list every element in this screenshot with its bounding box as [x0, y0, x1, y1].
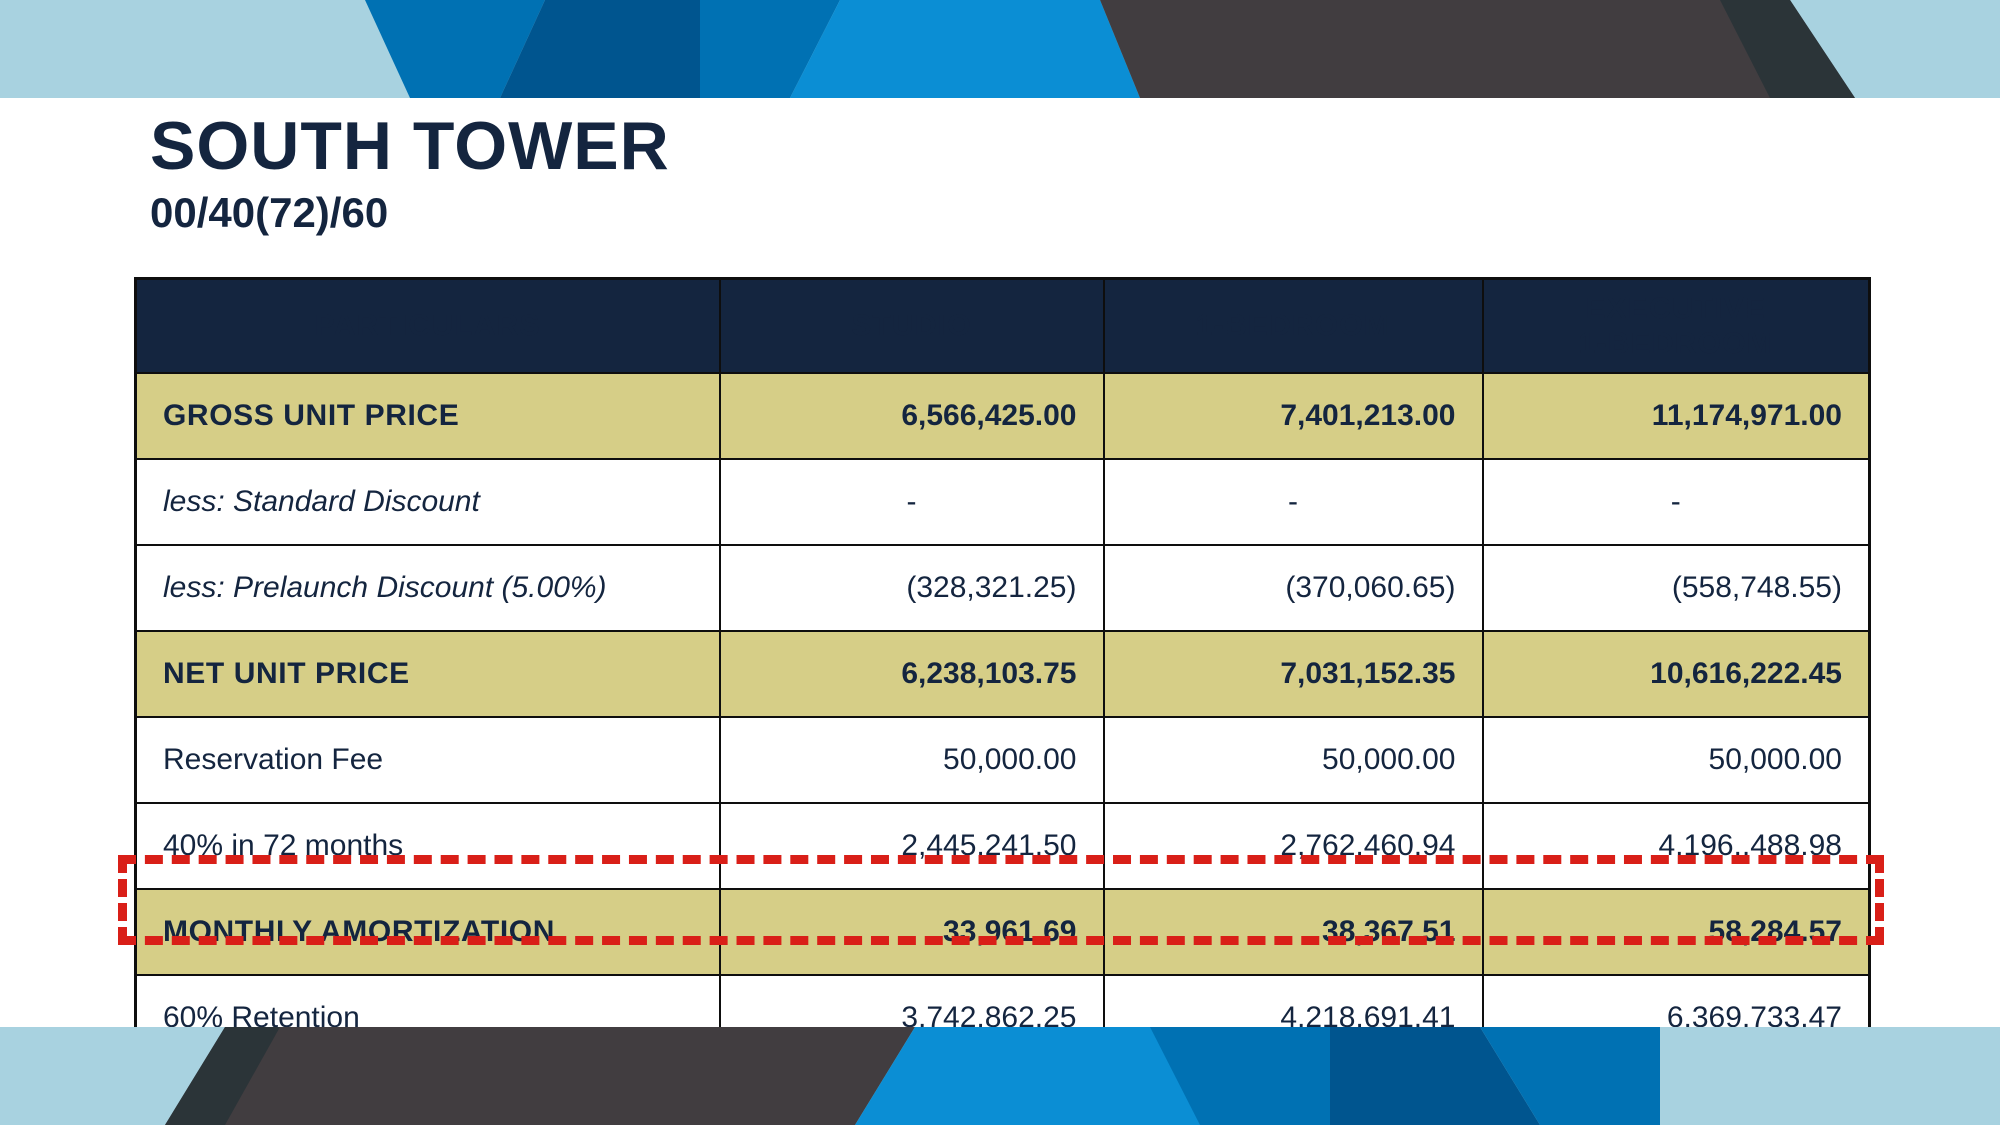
table-row: 40% in 72 months 2,445,241.50 2,762,460.… — [136, 803, 1870, 889]
row-label-40-percent-in-72-months: 40% in 72 months — [136, 803, 720, 889]
cell-prelaunch-discount-studio: (328,321.25) — [720, 545, 1104, 631]
pricing-table: PARTICULARS STUDIO 1-BEDROOM EXECUTIVE 1… — [134, 277, 1871, 1063]
bottom-banner-shapes — [0, 1027, 2000, 1125]
cell-prelaunch-discount-executive: (558,748.55) — [1483, 545, 1870, 631]
table-row-monthly-amortization: MONTHLY AMORTIZATION 33,961.69 38,367.51… — [136, 889, 1870, 975]
table-row: less: Prelaunch Discount (5.00%) (328,32… — [136, 545, 1870, 631]
row-label-monthly-amortization: MONTHLY AMORTIZATION — [136, 889, 720, 975]
cell-standard-discount-1-bedroom: - — [1104, 459, 1483, 545]
header-row: PARTICULARS STUDIO 1-BEDROOM EXECUTIVE 1… — [136, 279, 1870, 374]
cell-gross-unit-price-executive: 11,174,971.00 — [1483, 373, 1870, 459]
cell-monthly-amortization-1-bedroom: 38,367.51 — [1104, 889, 1483, 975]
cell-monthly-amortization-executive: 58,284.57 — [1483, 889, 1870, 975]
table-row: NET UNIT PRICE 6,238,103.75 7,031,152.35… — [136, 631, 1870, 717]
top-banner-shapes — [0, 0, 2000, 98]
table-header: PARTICULARS STUDIO 1-BEDROOM EXECUTIVE 1… — [136, 279, 1870, 374]
row-label-reservation-fee: Reservation Fee — [136, 717, 720, 803]
cell-reservation-fee-studio: 50,000.00 — [720, 717, 1104, 803]
column-header-executive-line2: 1-BEDROOM — [1510, 326, 1843, 361]
cell-reservation-fee-1-bedroom: 50,000.00 — [1104, 717, 1483, 803]
column-header-particulars: PARTICULARS — [136, 279, 720, 374]
title-block: SOUTH TOWER 00/40(72)/60 — [150, 112, 670, 234]
table-body: GROSS UNIT PRICE 6,566,425.00 7,401,213.… — [136, 373, 1870, 1061]
slide-canvas: SOUTH TOWER 00/40(72)/60 PARTICULARS STU… — [0, 0, 2000, 1125]
cell-gross-unit-price-1-bedroom: 7,401,213.00 — [1104, 373, 1483, 459]
top-banner-decoration — [0, 0, 2000, 98]
row-label-net-unit-price: NET UNIT PRICE — [136, 631, 720, 717]
cell-monthly-amortization-studio: 33,961.69 — [720, 889, 1104, 975]
cell-net-unit-price-executive: 10,616,222.45 — [1483, 631, 1870, 717]
cell-40-percent-1-bedroom: 2,762,460.94 — [1104, 803, 1483, 889]
cell-standard-discount-executive: - — [1483, 459, 1870, 545]
bottom-banner-decoration — [0, 1027, 2000, 1125]
banner-shape-blue-4 — [790, 0, 1140, 98]
table-row: GROSS UNIT PRICE 6,566,425.00 7,401,213.… — [136, 373, 1870, 459]
cell-prelaunch-discount-1-bedroom: (370,060.65) — [1104, 545, 1483, 631]
cell-reservation-fee-executive: 50,000.00 — [1483, 717, 1870, 803]
row-label-gross-unit-price: GROSS UNIT PRICE — [136, 373, 720, 459]
cell-40-percent-executive: 4,196,,488.98 — [1483, 803, 1870, 889]
table-row: less: Standard Discount - - - — [136, 459, 1870, 545]
row-label-prelaunch-discount: less: Prelaunch Discount (5.00%) — [136, 545, 720, 631]
cell-40-percent-studio: 2,445,241.50 — [720, 803, 1104, 889]
page-subtitle: 00/40(72)/60 — [150, 192, 670, 234]
cell-standard-discount-studio: - — [720, 459, 1104, 545]
row-label-standard-discount: less: Standard Discount — [136, 459, 720, 545]
cell-net-unit-price-1-bedroom: 7,031,152.35 — [1104, 631, 1483, 717]
banner-shape-gray-1 — [165, 1027, 915, 1125]
column-header-1-bedroom: 1-BEDROOM — [1104, 279, 1483, 374]
column-header-executive-line1: EXECUTIVE — [1585, 292, 1766, 325]
page-title: SOUTH TOWER — [150, 112, 670, 180]
column-header-studio: STUDIO — [720, 279, 1104, 374]
column-header-executive-1-bedroom: EXECUTIVE 1-BEDROOM — [1483, 279, 1870, 374]
cell-gross-unit-price-studio: 6,566,425.00 — [720, 373, 1104, 459]
pricing-table-container: PARTICULARS STUDIO 1-BEDROOM EXECUTIVE 1… — [134, 277, 1868, 1063]
table-row: Reservation Fee 50,000.00 50,000.00 50,0… — [136, 717, 1870, 803]
cell-net-unit-price-studio: 6,238,103.75 — [720, 631, 1104, 717]
